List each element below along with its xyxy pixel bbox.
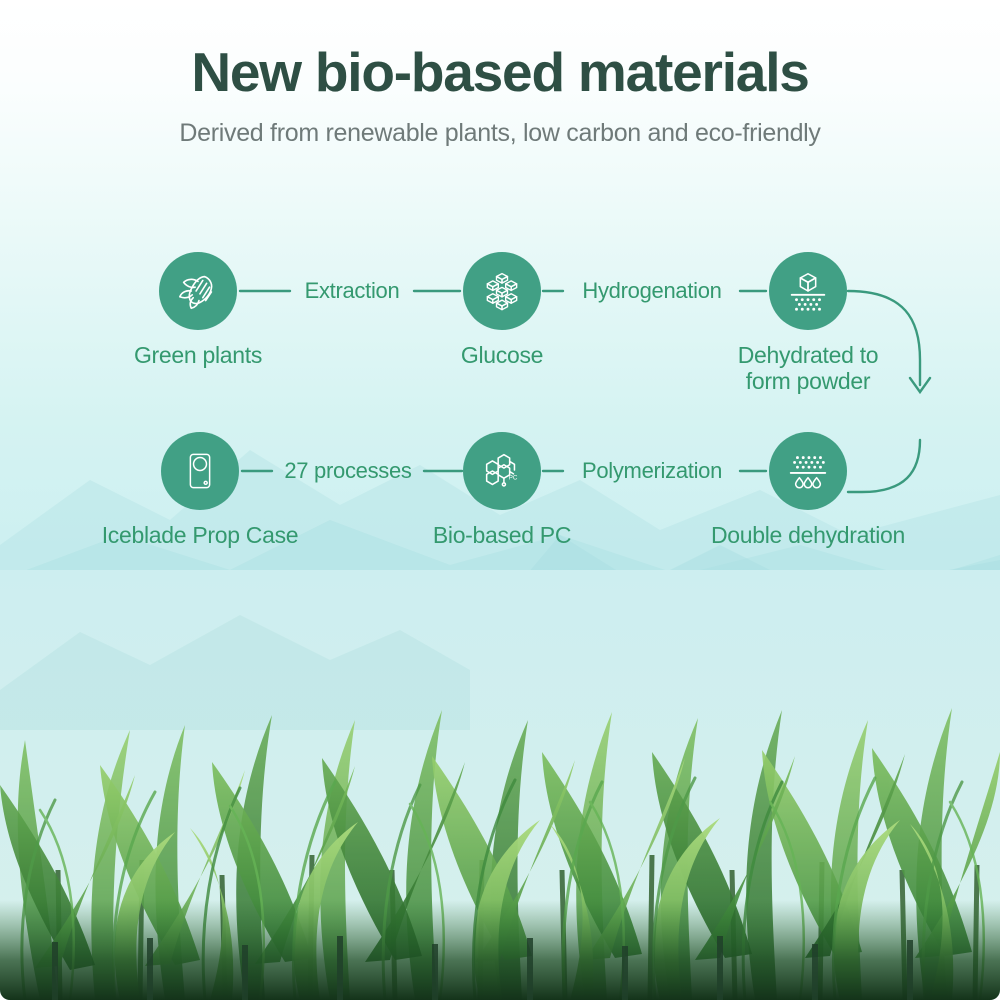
molecule-pc-text: PC	[509, 475, 518, 482]
powder-droplets-icon	[785, 448, 831, 494]
connector-label-27-processes: 27 processes	[276, 458, 419, 484]
sugar-cubes-icon	[480, 269, 524, 313]
node-icon-circle	[159, 252, 237, 330]
node-icon-circle	[769, 432, 847, 510]
connector-label-extraction: Extraction	[297, 278, 408, 304]
process-flow-diagram: Extraction Hydrogenation Polymerization …	[0, 0, 1000, 600]
node-icon-circle	[463, 252, 541, 330]
connector-label-hydrogenation: Hydrogenation	[574, 278, 729, 304]
sugarcane-illustration	[0, 570, 1000, 1000]
sugarcane-field-image	[0, 570, 1000, 1000]
corn-icon	[175, 268, 221, 314]
connector-label-polymerization: Polymerization	[574, 458, 730, 484]
node-icon-circle	[161, 432, 239, 510]
phone-case-icon	[179, 450, 221, 492]
node-icon-circle: PC	[463, 432, 541, 510]
cube-powder-icon	[785, 268, 831, 314]
infographic-canvas: New bio-based materials Derived from ren…	[0, 0, 1000, 1000]
node-icon-circle	[769, 252, 847, 330]
molecule-pc-icon: PC	[479, 448, 525, 494]
